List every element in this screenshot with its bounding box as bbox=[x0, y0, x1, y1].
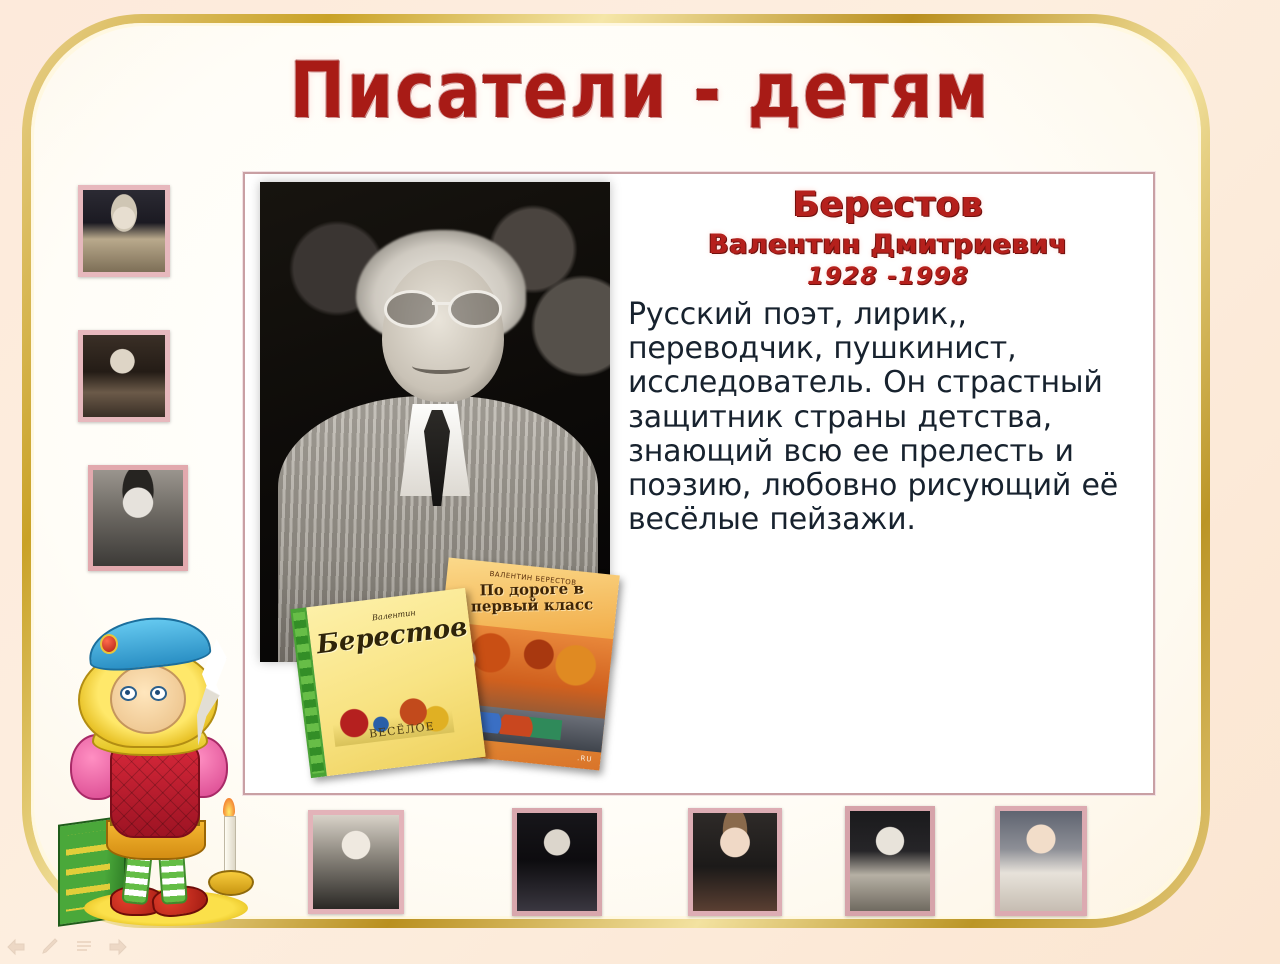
smile bbox=[412, 358, 470, 374]
side-thumbnail-3[interactable] bbox=[88, 465, 188, 571]
portrait-image bbox=[83, 335, 165, 417]
side-thumbnail-1[interactable] bbox=[78, 185, 170, 277]
book-watermark: .RU bbox=[577, 754, 593, 764]
navigation-icons bbox=[6, 938, 128, 956]
portrait-image bbox=[83, 190, 165, 272]
next-arrow-icon[interactable] bbox=[108, 938, 128, 956]
face bbox=[382, 260, 504, 402]
hat-gem-icon bbox=[100, 634, 118, 654]
book-covers-group: ВАЛЕНТИН БЕРЕСТОВ По дороге в первый кла… bbox=[292, 566, 610, 796]
gnome-writer-illustration bbox=[48, 612, 258, 912]
portrait-image bbox=[693, 813, 777, 911]
slide-page: Писатели - детям bbox=[0, 0, 1280, 964]
side-thumbnail-2[interactable] bbox=[78, 330, 170, 422]
author-name-patronymic: Валентин Дмитриевич bbox=[628, 229, 1148, 260]
candle-base bbox=[208, 870, 254, 896]
book-cover-first[interactable]: Валентин Берестов ВЕСЁЛОЕ bbox=[290, 588, 485, 778]
previous-arrow-icon[interactable] bbox=[6, 938, 26, 956]
candle-icon bbox=[208, 808, 250, 904]
eye-right bbox=[150, 686, 167, 701]
bottom-thumbnail-3[interactable] bbox=[688, 808, 782, 916]
author-life-years: 1928 -1998 bbox=[628, 262, 1148, 290]
bottom-thumbnail-1[interactable] bbox=[308, 810, 404, 914]
author-description: Русский поэт, лирик,, переводчик, пушкин… bbox=[628, 298, 1148, 537]
portrait-image bbox=[1000, 811, 1082, 911]
book-title: По дороге в первый класс bbox=[453, 581, 612, 615]
tunic bbox=[110, 742, 200, 838]
face bbox=[110, 664, 186, 734]
menu-list-icon[interactable] bbox=[74, 938, 94, 956]
portrait-image bbox=[517, 813, 597, 911]
bottom-thumbnail-4[interactable] bbox=[845, 806, 935, 916]
biography-text-block: Берестов Валентин Дмитриевич 1928 -1998 … bbox=[628, 188, 1148, 537]
bottom-thumbnail-5[interactable] bbox=[995, 806, 1087, 916]
eye-left bbox=[120, 686, 137, 701]
candle-stick bbox=[224, 816, 236, 872]
portrait-image bbox=[313, 815, 399, 909]
flame-icon bbox=[223, 798, 235, 818]
portrait-image bbox=[850, 811, 930, 911]
bottom-thumbnail-2[interactable] bbox=[512, 808, 602, 916]
pen-icon[interactable] bbox=[40, 938, 60, 956]
eyeglasses-icon bbox=[384, 290, 502, 324]
author-surname: Берестов bbox=[628, 188, 1148, 223]
portrait-image bbox=[93, 470, 183, 566]
